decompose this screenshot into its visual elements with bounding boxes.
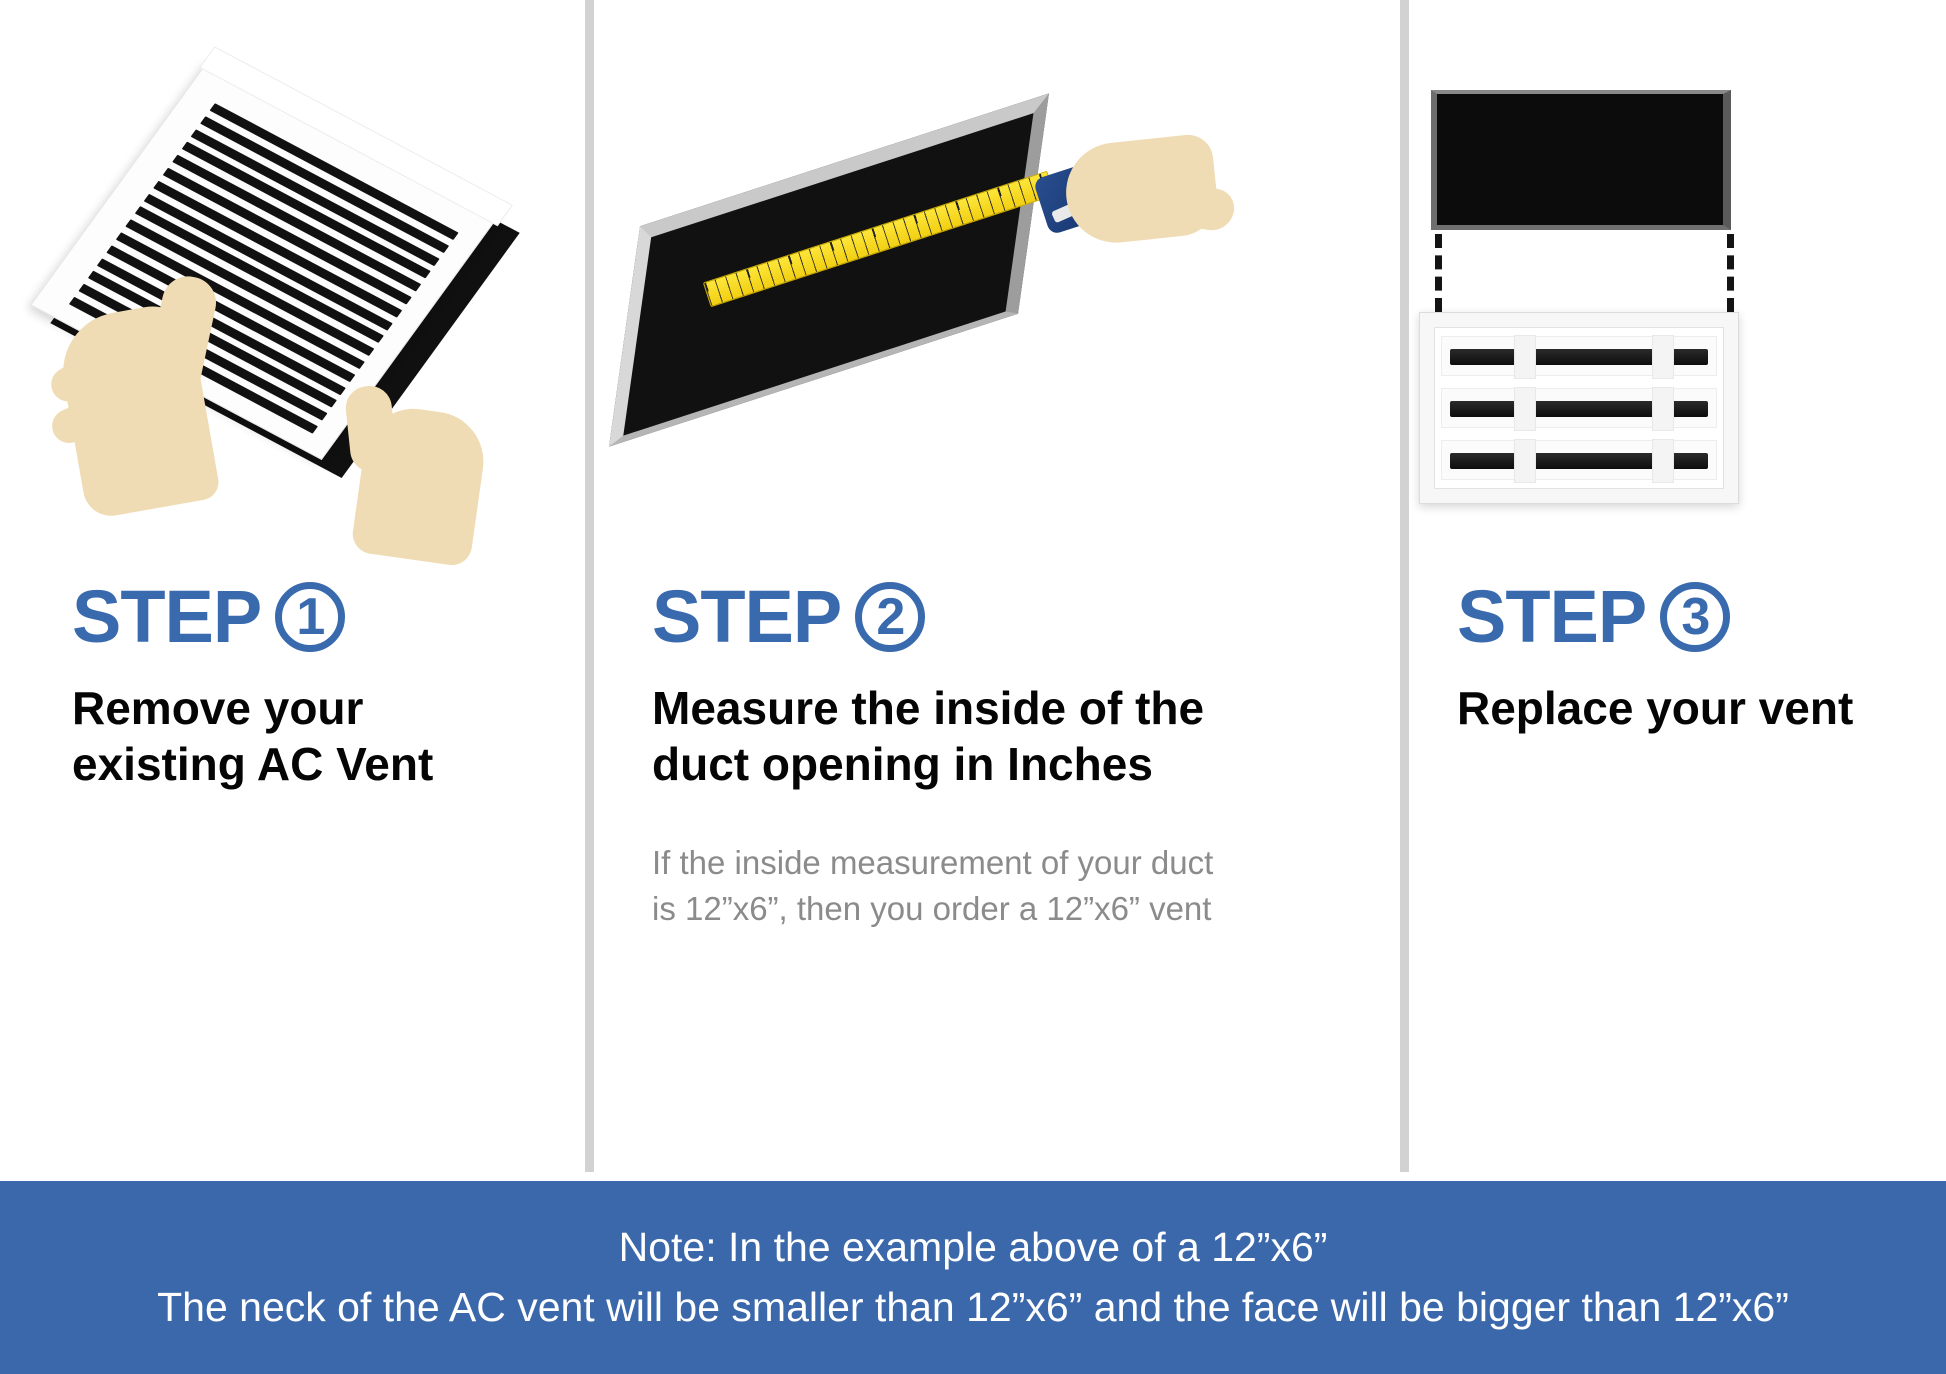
louver-row [1441,388,1717,428]
step-column-3: STEP 3 Replace your vent [1409,0,1946,1172]
column-divider-1 [585,0,594,1172]
step-3-heading: STEP 3 [1445,580,1946,654]
step-1-body-text: Remove your existing AC Vent [72,680,585,792]
step-2-note-text: If the inside measurement of your duct i… [652,840,1400,931]
hand-holding-tape-icon [1061,132,1221,247]
step-1-number-badge: 1 [275,582,345,652]
ac-vent-illustration [60,80,530,500]
step-2-caption: STEP 2 Measure the inside of the duct op… [594,580,1400,931]
column-divider-2 [1400,0,1409,1172]
step-1-heading: STEP 1 [72,580,585,654]
step-column-1: STEP 1 Remove your existing AC Vent [0,0,585,1172]
footer-note-banner: Note: In the example above of a 12”x6” T… [0,1181,1946,1374]
step-1-caption: STEP 1 Remove your existing AC Vent [0,580,585,792]
replace-vent-illustration [1409,90,1946,540]
louver-post [1652,439,1674,483]
louver-row [1441,336,1717,376]
louver-post [1652,387,1674,431]
vent-grille-inner [1434,327,1724,489]
louver-post [1514,439,1536,483]
alignment-guide-right [1727,234,1734,312]
louver-post [1514,387,1536,431]
infographic-board: STEP 1 Remove your existing AC Vent STEP… [0,0,1946,1374]
louver-row [1441,440,1717,480]
banner-line-1: Note: In the example above of a 12”x6” [619,1218,1328,1277]
step-2-heading: STEP 2 [652,580,1400,654]
step-1-word: STEP [72,580,261,654]
louver-post [1652,335,1674,379]
step-3-number-badge: 3 [1660,582,1730,652]
banner-line-2: The neck of the AC vent will be smaller … [157,1278,1789,1337]
step-2-number-badge: 2 [855,582,925,652]
new-vent-grille [1419,312,1739,504]
step-3-caption: STEP 3 Replace your vent [1409,580,1946,736]
step-column-2: STEP 2 Measure the inside of the duct op… [594,0,1400,1172]
step-3-body-text: Replace your vent [1445,680,1946,736]
duct-opening [609,93,1049,446]
step-3-word: STEP [1457,580,1646,654]
step-2-body-text: Measure the inside of the duct opening i… [652,680,1400,792]
alignment-guide-left [1435,234,1442,312]
louver-post [1514,335,1536,379]
duct-opening-top [1431,90,1731,230]
duct-measuring-illustration [614,110,1174,470]
step-2-word: STEP [652,580,841,654]
